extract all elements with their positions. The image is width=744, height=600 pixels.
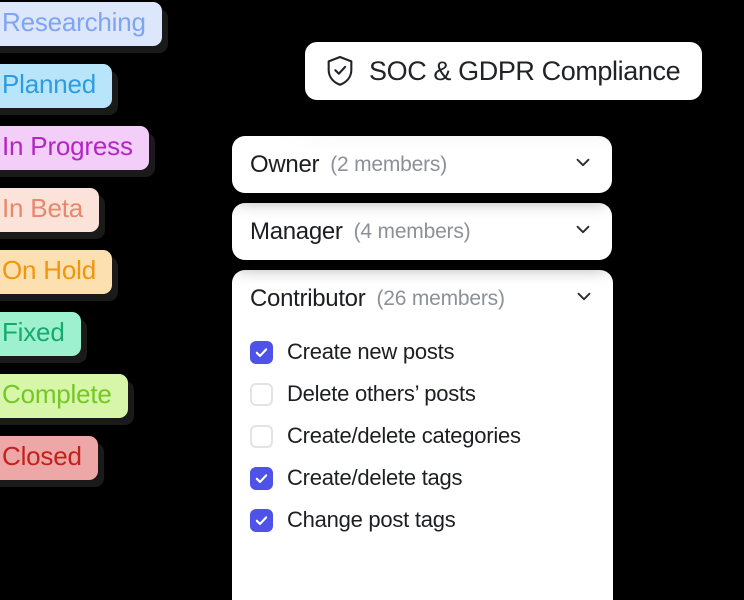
status-badge[interactable]: In Progress — [0, 126, 149, 170]
role-header-owner[interactable]: Owner (2 members) — [232, 136, 612, 193]
checkbox-checked[interactable] — [250, 509, 273, 532]
status-badge-row: Complete — [0, 374, 128, 418]
role-name-manager: Manager — [250, 218, 343, 246]
status-badge-row: In Progress — [0, 126, 149, 170]
role-name-contributor: Contributor — [250, 285, 365, 313]
status-badge-row: On Hold — [0, 250, 112, 294]
role-header-contributor[interactable]: Contributor (26 members) — [232, 270, 613, 327]
permission-label: Create/delete tags — [287, 465, 462, 491]
status-badge[interactable]: In Beta — [0, 188, 99, 232]
status-badge-row: Researching — [0, 2, 162, 46]
compliance-button-label: SOC & GDPR Compliance — [369, 56, 680, 87]
status-badge[interactable]: On Hold — [0, 250, 112, 294]
permission-row[interactable]: Create new posts — [250, 331, 613, 373]
permission-label: Delete others’ posts — [287, 381, 476, 407]
chevron-down-icon[interactable] — [572, 151, 594, 178]
permission-row[interactable]: Create/delete categories — [250, 415, 613, 457]
chevron-down-icon[interactable] — [572, 218, 594, 245]
status-badge[interactable]: Planned — [0, 64, 112, 108]
permission-label: Create new posts — [287, 339, 454, 365]
role-name-owner: Owner — [250, 151, 319, 179]
status-badge-row: Fixed — [0, 312, 81, 356]
chevron-down-icon[interactable] — [573, 285, 595, 312]
status-badge[interactable]: Researching — [0, 2, 162, 46]
role-card-manager[interactable]: Manager (4 members) — [232, 203, 612, 260]
role-member-count-owner: (2 members) — [330, 153, 447, 177]
role-header-manager[interactable]: Manager (4 members) — [232, 203, 612, 260]
permission-label: Change post tags — [287, 507, 455, 533]
soc-gdpr-compliance-button[interactable]: SOC & GDPR Compliance — [305, 42, 702, 100]
checkbox-unchecked[interactable] — [250, 383, 273, 406]
role-member-count-manager: (4 members) — [354, 220, 471, 244]
checkbox-unchecked[interactable] — [250, 425, 273, 448]
permission-list: Create new postsDelete others’ postsCrea… — [232, 327, 613, 541]
status-badge[interactable]: Complete — [0, 374, 128, 418]
permission-row[interactable]: Change post tags — [250, 499, 613, 541]
role-card-contributor[interactable]: Contributor (26 members) Create new post… — [232, 270, 613, 600]
permission-row[interactable]: Delete others’ posts — [250, 373, 613, 415]
status-badge-row: Planned — [0, 64, 112, 108]
role-card-owner[interactable]: Owner (2 members) — [232, 136, 612, 193]
status-badge-row: Closed — [0, 436, 98, 480]
status-badge[interactable]: Fixed — [0, 312, 81, 356]
status-badge[interactable]: Closed — [0, 436, 98, 480]
permission-label: Create/delete categories — [287, 423, 521, 449]
shield-check-icon — [325, 55, 355, 87]
checkbox-checked[interactable] — [250, 341, 273, 364]
role-member-count-contributor: (26 members) — [376, 287, 504, 311]
status-badge-row: In Beta — [0, 188, 99, 232]
status-badge-list: ResearchingPlannedIn ProgressIn BetaOn H… — [0, 0, 240, 600]
permission-row[interactable]: Create/delete tags — [250, 457, 613, 499]
checkbox-checked[interactable] — [250, 467, 273, 490]
